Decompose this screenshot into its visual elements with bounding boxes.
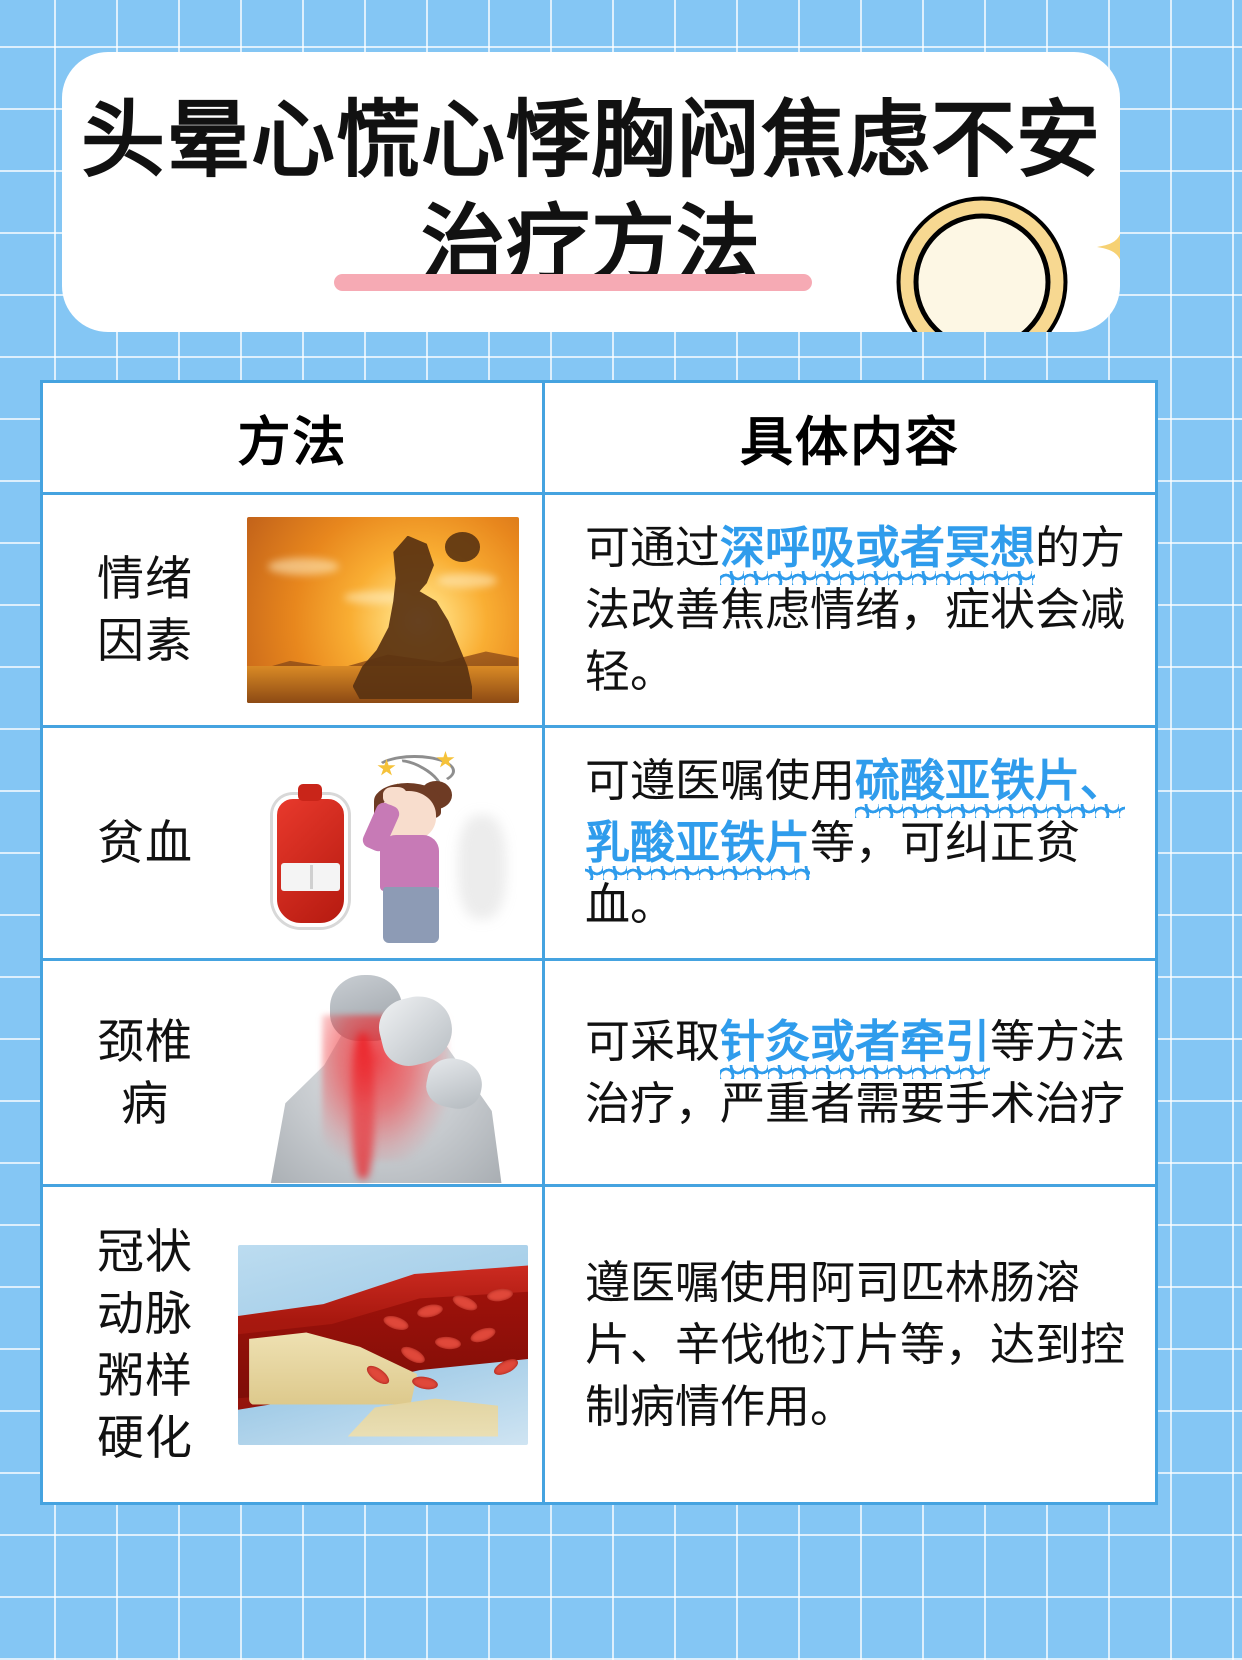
atherosclerosis-artery-photo [238,1245,528,1445]
treatment-table: 方法 具体内容 情绪 因素 [40,380,1158,1505]
detail-cell: 遵医嘱使用阿司匹林肠溶片、辛伐他汀片等，达到控制病情作用。 [544,1186,1157,1504]
detail-text: 可采取针灸或者牵引等方法治疗，严重者需要手术治疗 [585,1011,1129,1135]
method-cell: 冠状 动脉 粥样 硬化 [42,1186,544,1504]
method-label: 颈椎 病 [61,1011,229,1135]
method-label: 情绪 因素 [61,548,229,672]
plain-text: 可遵医嘱使用 [585,755,855,806]
detail-cell: 可采取针灸或者牵引等方法治疗，严重者需要手术治疗 [544,960,1157,1186]
magnifier-icon [890,190,1100,332]
method-image [229,961,536,1184]
anemia-blood-bag-illustration [249,743,517,943]
detail-text: 可通过深呼吸或者冥想的方法改善焦虑情绪，症状会减轻。 [585,517,1129,703]
detail-text: 可遵医嘱使用硫酸亚铁片、乳酸亚铁片等，可纠正贫血。 [585,750,1129,936]
plain-text: 遵医嘱使用阿司匹林肠溶片、辛伐他汀片等，达到控制病情作用。 [585,1257,1125,1432]
title-line-1: 头晕心慌心悸胸闷焦虑不安 [62,88,1120,192]
highlighted-term: 深呼吸或者冥想 [720,522,1035,587]
highlighted-term: 针灸或者牵引 [720,1016,990,1081]
title-card: 头晕心慌心悸胸闷焦虑不安 治疗方法 [62,52,1120,332]
detail-cell: 可遵医嘱使用硫酸亚铁片、乳酸亚铁片等，可纠正贫血。 [544,727,1157,960]
method-image [229,1187,536,1502]
table-header-row: 方法 具体内容 [42,382,1157,494]
method-label: 贫血 [61,812,229,874]
table-row: 颈椎 病 [42,960,1157,1186]
table-row: 冠状 动脉 粥样 硬化 [42,1186,1157,1504]
detail-text: 遵医嘱使用阿司匹林肠溶片、辛伐他汀片等，达到控制病情作用。 [585,1252,1129,1438]
method-image [229,728,536,958]
method-label: 冠状 动脉 粥样 硬化 [61,1221,229,1469]
title-underline [334,274,812,291]
method-cell: 贫血 [42,727,544,960]
neck-pain-photo [245,962,521,1184]
plain-text: 可采取 [585,1016,720,1067]
detail-cell: 可通过深呼吸或者冥想的方法改善焦虑情绪，症状会减轻。 [544,494,1157,727]
sparkle-icon [1097,220,1120,274]
method-cell: 颈椎 病 [42,960,544,1186]
method-cell: 情绪 因素 [42,494,544,727]
table-row: 情绪 因素 [42,494,1157,727]
header-method: 方法 [42,382,544,494]
plain-text: 可通过 [585,522,720,573]
header-detail: 具体内容 [544,382,1157,494]
sunset-meditation-photo [247,517,519,703]
method-image [229,495,536,725]
table-body: 情绪 因素 [42,494,1157,1504]
table-row: 贫血 [42,727,1157,960]
